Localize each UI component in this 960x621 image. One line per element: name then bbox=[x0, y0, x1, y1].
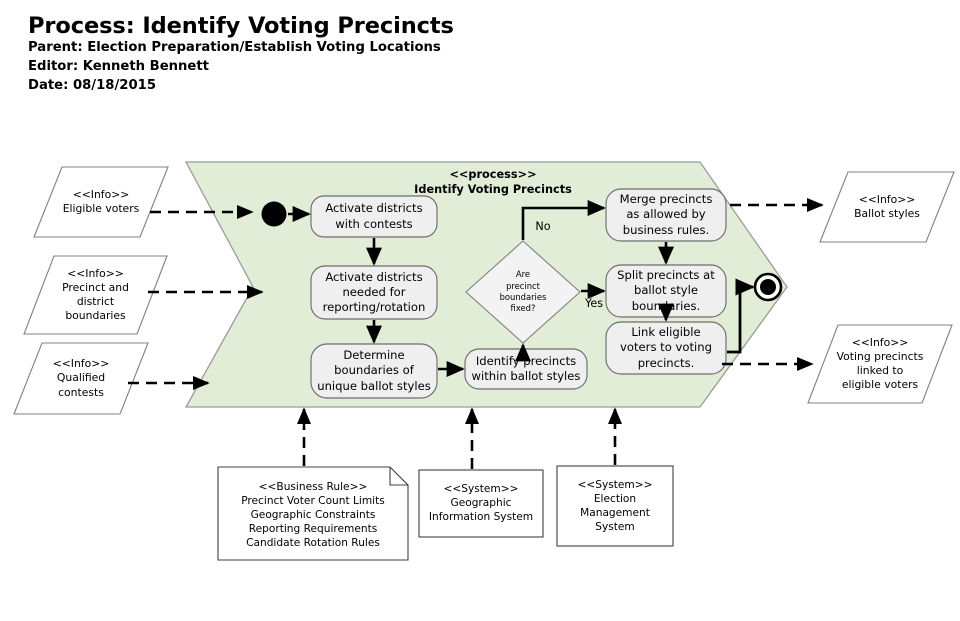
header-editor: Editor: Kenneth Bennett bbox=[28, 58, 628, 77]
final-node-inner-icon bbox=[760, 279, 776, 295]
initial-node-icon bbox=[262, 202, 287, 227]
activity-shape-activate-districts-with-contests[interactable] bbox=[311, 196, 437, 237]
info-shape-precinct-district-boundaries[interactable] bbox=[24, 256, 167, 334]
activity-shape-activate-districts-reporting-rotation[interactable] bbox=[311, 266, 437, 319]
info-shape-qualified-contests[interactable] bbox=[14, 343, 148, 414]
note-shape-election-management-system[interactable] bbox=[557, 466, 673, 546]
diagram-header: Process: Identify Voting Precincts Paren… bbox=[28, 14, 628, 95]
page-title: Process: Identify Voting Precincts bbox=[28, 14, 628, 39]
activity-shape-determine-boundaries-unique-ballot-styles[interactable] bbox=[311, 344, 437, 398]
header-date: Date: 08/18/2015 bbox=[28, 77, 628, 96]
activity-shape-identify-precincts-within-ballot-styles[interactable] bbox=[465, 349, 587, 389]
header-parent: Parent: Election Preparation/Establish V… bbox=[28, 39, 628, 58]
activity-shape-merge-precincts[interactable] bbox=[606, 189, 726, 241]
info-shape-ballot-styles[interactable] bbox=[820, 172, 954, 242]
note-shape-geographic-information-system[interactable] bbox=[419, 470, 543, 537]
info-shape-eligible-voters[interactable] bbox=[34, 167, 168, 237]
info-shape-voting-precincts-linked[interactable] bbox=[808, 325, 952, 403]
note-shape-business-rule[interactable] bbox=[218, 467, 408, 560]
activity-shape-split-precincts[interactable] bbox=[606, 265, 726, 317]
activity-shape-link-eligible-voters[interactable] bbox=[606, 322, 726, 374]
